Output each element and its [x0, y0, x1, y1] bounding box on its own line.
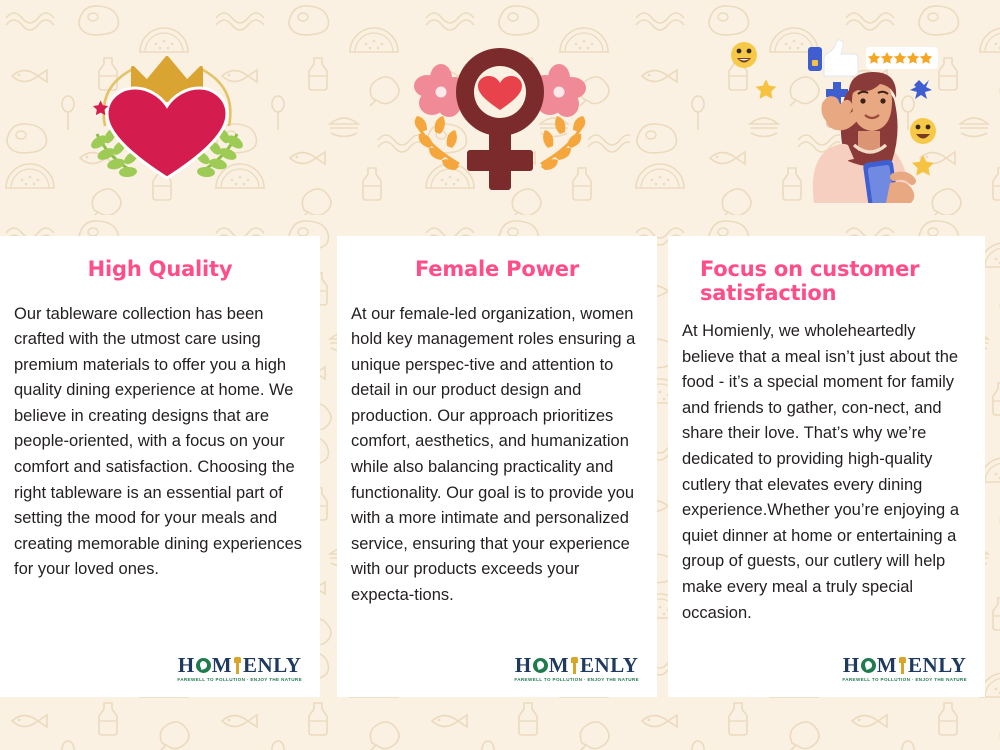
logo-wordmark: H M ENLY	[178, 655, 302, 676]
logo-wordmark: H M ENLY	[515, 655, 639, 676]
female-power-venus-heart-illustration	[405, 36, 595, 201]
card-body-text: At Homienly, we wholeheartedly believe t…	[682, 319, 971, 655]
card-title: Female Power	[351, 258, 643, 282]
illustration-row	[0, 0, 1000, 236]
logo-leaf-o-icon	[533, 658, 548, 673]
card-footer: H M ENLY FAREWELL TO POLLUTION · ENJOY T…	[351, 655, 643, 687]
logo-fork-i-icon	[571, 657, 578, 674]
logo-fork-i-icon	[234, 657, 241, 674]
illustration-cell-1	[0, 0, 333, 236]
cards-row: High Quality Our tableware collection ha…	[0, 236, 1000, 697]
card-title: High Quality	[14, 258, 306, 282]
illustration-cell-2	[333, 0, 666, 236]
logo-letter-h: H	[515, 655, 532, 676]
card-footer: H M ENLY FAREWELL TO POLLUTION · ENJOY T…	[682, 655, 971, 687]
card-title: Focus on customer satisfaction	[682, 258, 971, 305]
logo-letter-m: M	[877, 655, 897, 676]
homienly-logo: H M ENLY FAREWELL TO POLLUTION · ENJOY T…	[514, 655, 639, 683]
card-body-text: Our tableware collection has been crafte…	[14, 302, 306, 656]
feature-card-focus-on-customer-satisfaction: Focus on customer satisfaction At Homien…	[668, 236, 985, 697]
logo-letter-h: H	[843, 655, 860, 676]
feature-card-female-power: Female Power At our female-led organizat…	[337, 236, 657, 697]
logo-letters-enly: ENLY	[243, 655, 301, 676]
logo-tagline: FAREWELL TO POLLUTION · ENJOY THE NATURE	[514, 678, 639, 683]
orange-leaf-right-icon	[541, 116, 585, 170]
logo-leaf-o-icon	[196, 658, 211, 673]
card-body-text: At our female-led organization, women ho…	[351, 302, 643, 656]
smiley-emoji-icon	[731, 42, 757, 68]
crowned-heart-laurel-illustration	[77, 38, 257, 198]
logo-tagline: FAREWELL TO POLLUTION · ENJOY THE NATURE	[842, 678, 967, 683]
thumbs-up-icon	[808, 40, 858, 76]
logo-letters-enly: ENLY	[908, 655, 966, 676]
logo-letters-enly: ENLY	[580, 655, 638, 676]
homienly-logo: H M ENLY FAREWELL TO POLLUTION · ENJOY T…	[842, 655, 967, 683]
logo-letter-m: M	[212, 655, 232, 676]
happy-customer-reviews-illustration	[718, 33, 948, 203]
venus-symbol-icon	[456, 48, 544, 190]
logo-fork-i-icon	[899, 657, 906, 674]
logo-letter-h: H	[178, 655, 195, 676]
five-star-rating-icon	[866, 47, 938, 69]
logo-wordmark: H M ENLY	[843, 655, 967, 676]
logo-letter-m: M	[549, 655, 569, 676]
illustration-cell-3	[667, 0, 1000, 236]
logo-tagline: FAREWELL TO POLLUTION · ENJOY THE NATURE	[177, 678, 302, 683]
card-footer: H M ENLY FAREWELL TO POLLUTION · ENJOY T…	[14, 655, 306, 687]
homienly-logo: H M ENLY FAREWELL TO POLLUTION · ENJOY T…	[177, 655, 302, 683]
orange-leaf-left-icon	[415, 116, 459, 170]
logo-leaf-o-icon	[861, 658, 876, 673]
feature-card-high-quality: High Quality Our tableware collection ha…	[0, 236, 320, 697]
smiley-emoji-icon	[910, 118, 936, 144]
